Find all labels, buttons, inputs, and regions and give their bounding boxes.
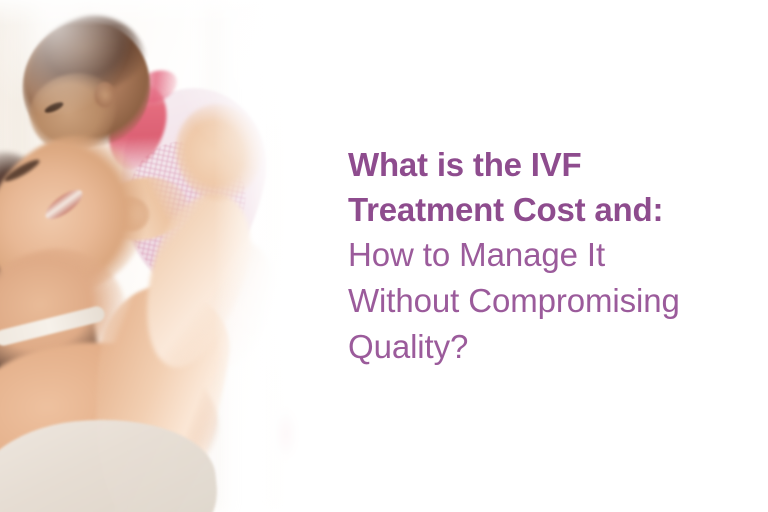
hero-photo [0, 0, 332, 512]
baby-ear [94, 82, 116, 108]
page-title: What is the IVF Treatment Cost and: [348, 142, 748, 232]
ivf-cost-banner: What is the IVF Treatment Cost and: How … [0, 0, 768, 512]
pink-highlight [270, 398, 304, 470]
subheadline-line-3: Quality? [348, 324, 748, 370]
subheadline-line-1: How to Manage It [348, 232, 748, 278]
text-block: What is the IVF Treatment Cost and: How … [348, 0, 748, 512]
headline-line-2: Treatment Cost and: [348, 187, 748, 232]
page-subtitle: How to Manage It Without Compromising Qu… [348, 232, 748, 370]
subheadline-line-2: Without Compromising [348, 278, 748, 324]
headline-line-1: What is the IVF [348, 142, 748, 187]
